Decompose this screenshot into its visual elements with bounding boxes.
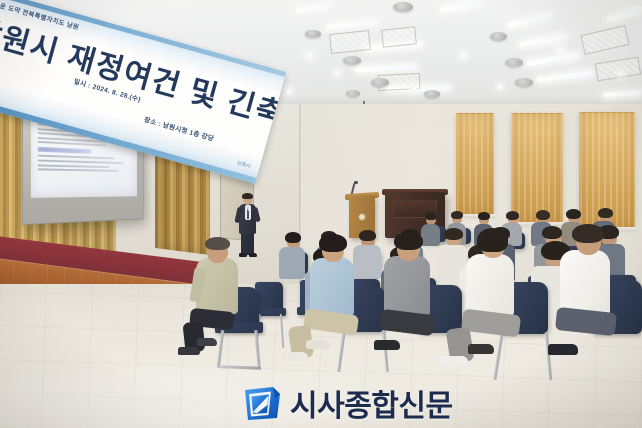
audience-hair: [506, 211, 519, 220]
audience-torso: [466, 254, 514, 316]
audience-shoe: [306, 340, 330, 349]
ceiling-diffuser: [490, 32, 507, 41]
air-vent: [381, 26, 417, 47]
downlight: [411, 86, 417, 92]
ceiling-diffuser: [305, 30, 321, 38]
audience-shoe: [178, 347, 200, 355]
presenter-hair: [242, 193, 253, 199]
audience-hair: [598, 208, 613, 218]
ceiling-diffuser: [505, 58, 523, 67]
banner-city-mark: 남원시: [236, 159, 251, 169]
downlight: [286, 88, 292, 94]
slide-body-line: [38, 168, 118, 171]
audience-hair: [444, 228, 463, 240]
slide-body-line: [38, 159, 124, 164]
watermark-text: 시사종합신문: [290, 381, 453, 425]
air-vent: [329, 30, 371, 54]
audience-hair: [451, 211, 463, 219]
audience-torso: [421, 224, 440, 246]
audience-torso: [353, 245, 381, 279]
audience-shoe: [197, 338, 217, 346]
podium-microphone-head: [354, 181, 358, 184]
audience-shoe: [548, 344, 578, 355]
book-swoosh-logo-icon: [243, 385, 283, 422]
audience-shoe: [440, 356, 468, 366]
audience-hair: [572, 224, 604, 243]
watermark: 시사종합신문: [243, 381, 453, 425]
window-curtain-2: [511, 113, 563, 223]
downlight: [617, 70, 624, 77]
audience-torso: [560, 250, 610, 316]
ceiling-diffuser: [346, 90, 360, 97]
audience-torso: [279, 247, 305, 279]
audience-torso: [384, 256, 430, 316]
window-curtain-1: [456, 113, 494, 215]
ceiling-diffuser: [515, 78, 533, 87]
audience-hair: [542, 226, 562, 239]
seminar-photograph: 2024년 남원시 재정여건 및 긴축재정 추진계획: [0, 0, 642, 428]
audience-hair: [425, 212, 437, 220]
audience-shoe: [468, 344, 494, 354]
audience-hair: [394, 232, 423, 250]
audience-hair: [536, 210, 550, 220]
audience-hair: [359, 230, 376, 241]
ceiling-diffuser: [393, 2, 413, 12]
audience-hair: [319, 234, 347, 252]
audience-shoe: [282, 352, 308, 361]
presenter-shoe: [249, 253, 257, 257]
audience-hair: [205, 237, 230, 250]
presenter-legs: [241, 232, 254, 255]
audience-hair: [477, 228, 508, 252]
ceiling-diffuser: [424, 90, 440, 98]
ceiling-diffuser: [371, 78, 389, 87]
audience-hair: [285, 232, 301, 243]
downlight: [334, 70, 340, 76]
audience-hair: [566, 209, 581, 219]
downlight: [557, 46, 564, 53]
downlight: [497, 84, 503, 90]
slide-section-heading-2: [38, 147, 92, 154]
audience-hair: [478, 212, 490, 220]
presenter-shoe: [239, 253, 247, 257]
banner-place: 장소 : 남원시청 1층 강당: [143, 114, 215, 143]
downlight: [306, 52, 313, 59]
podium-emblem: [358, 213, 366, 221]
downlight: [460, 52, 467, 59]
audience-torso: [310, 258, 354, 316]
audience-shoe: [374, 340, 400, 350]
ceiling-diffuser: [343, 56, 361, 65]
slide-body-line: [38, 164, 110, 168]
